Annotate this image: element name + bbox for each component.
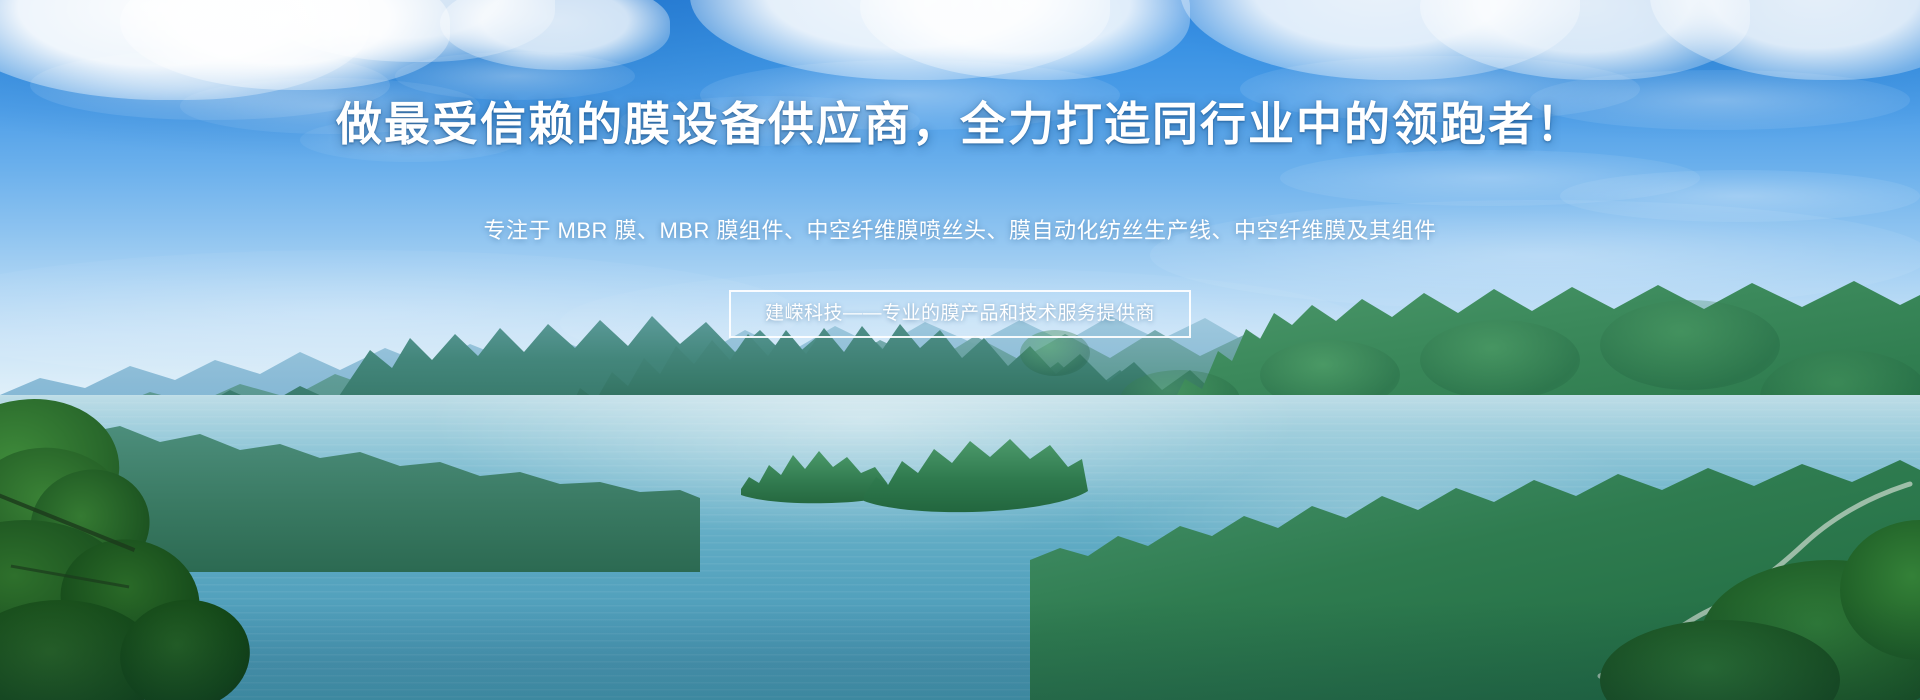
banner-tagline-wrapper: 建嵘科技——专业的膜产品和技术服务提供商	[0, 290, 1920, 338]
banner-subheadline: 专注于 MBR 膜、MBR 膜组件、中空纤维膜喷丝头、膜自动化纺丝生产线、中空纤…	[0, 216, 1920, 246]
banner-headline: 做最受信赖的膜设备供应商，全力打造同行业中的领跑者！	[0, 98, 1920, 150]
banner-tagline-box: 建嵘科技——专业的膜产品和技术服务提供商	[729, 290, 1191, 338]
banner-copy: 做最受信赖的膜设备供应商，全力打造同行业中的领跑者！ 专注于 MBR 膜、MBR…	[0, 0, 1920, 700]
hero-banner: 做最受信赖的膜设备供应商，全力打造同行业中的领跑者！ 专注于 MBR 膜、MBR…	[0, 0, 1920, 700]
